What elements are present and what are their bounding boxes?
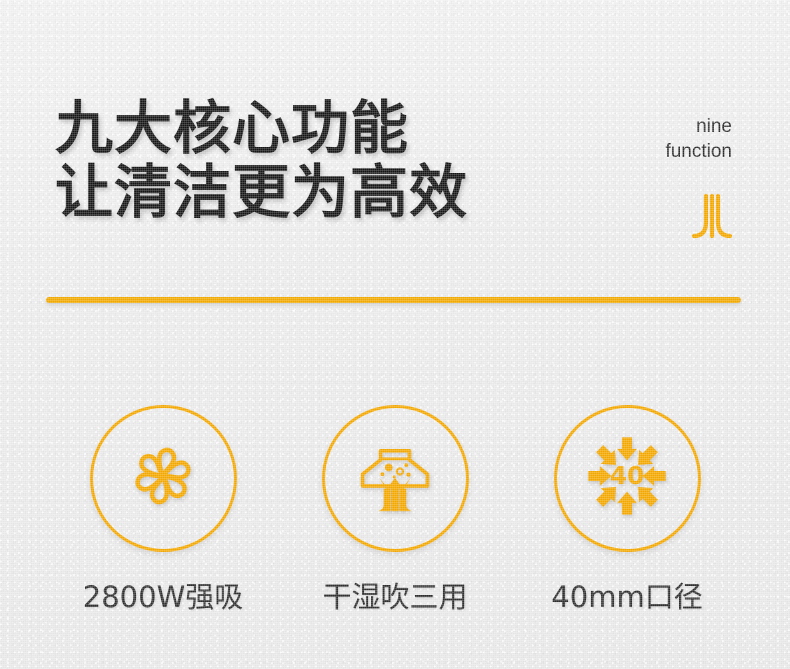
headline-line-2: 让清洁更为高效 bbox=[55, 160, 468, 224]
feature-item-three-modes[interactable]: 干湿吹三用 bbox=[321, 405, 469, 616]
feature-label: 40mm口径 bbox=[551, 574, 702, 616]
fan-blades-icon bbox=[120, 433, 206, 524]
feature-icon-circle bbox=[90, 405, 237, 552]
headline-line-1: 九大核心功能 bbox=[55, 94, 409, 162]
feature-item-diameter[interactable]: 40 40mm口径 bbox=[553, 405, 701, 616]
feature-label: 2800W强吸 bbox=[83, 574, 243, 616]
page-title: 九大核心功能 让清洁更为高效 bbox=[55, 96, 468, 224]
feature-item-suction[interactable]: 2800W强吸 bbox=[89, 405, 237, 616]
converging-arrows-40-icon: 40 bbox=[581, 430, 673, 527]
diameter-value: 40 bbox=[610, 461, 645, 490]
english-line-2: function bbox=[665, 139, 732, 164]
promo-page: 九大核心功能 让清洁更为高效 nine function bbox=[0, 0, 790, 669]
english-subtitle: nine function bbox=[665, 114, 732, 164]
feature-icon-circle bbox=[322, 405, 469, 552]
brand-logo-mark bbox=[686, 192, 738, 240]
feature-icon-circle: 40 bbox=[554, 405, 701, 552]
english-line-1: nine bbox=[665, 114, 732, 139]
feature-label: 干湿吹三用 bbox=[322, 574, 467, 616]
feature-list: 2800W强吸 bbox=[0, 405, 790, 616]
accent-divider bbox=[46, 297, 741, 303]
vacuum-nozzle-arrows-icon bbox=[350, 431, 440, 526]
page-header: 九大核心功能 让清洁更为高效 nine function bbox=[0, 0, 790, 300]
